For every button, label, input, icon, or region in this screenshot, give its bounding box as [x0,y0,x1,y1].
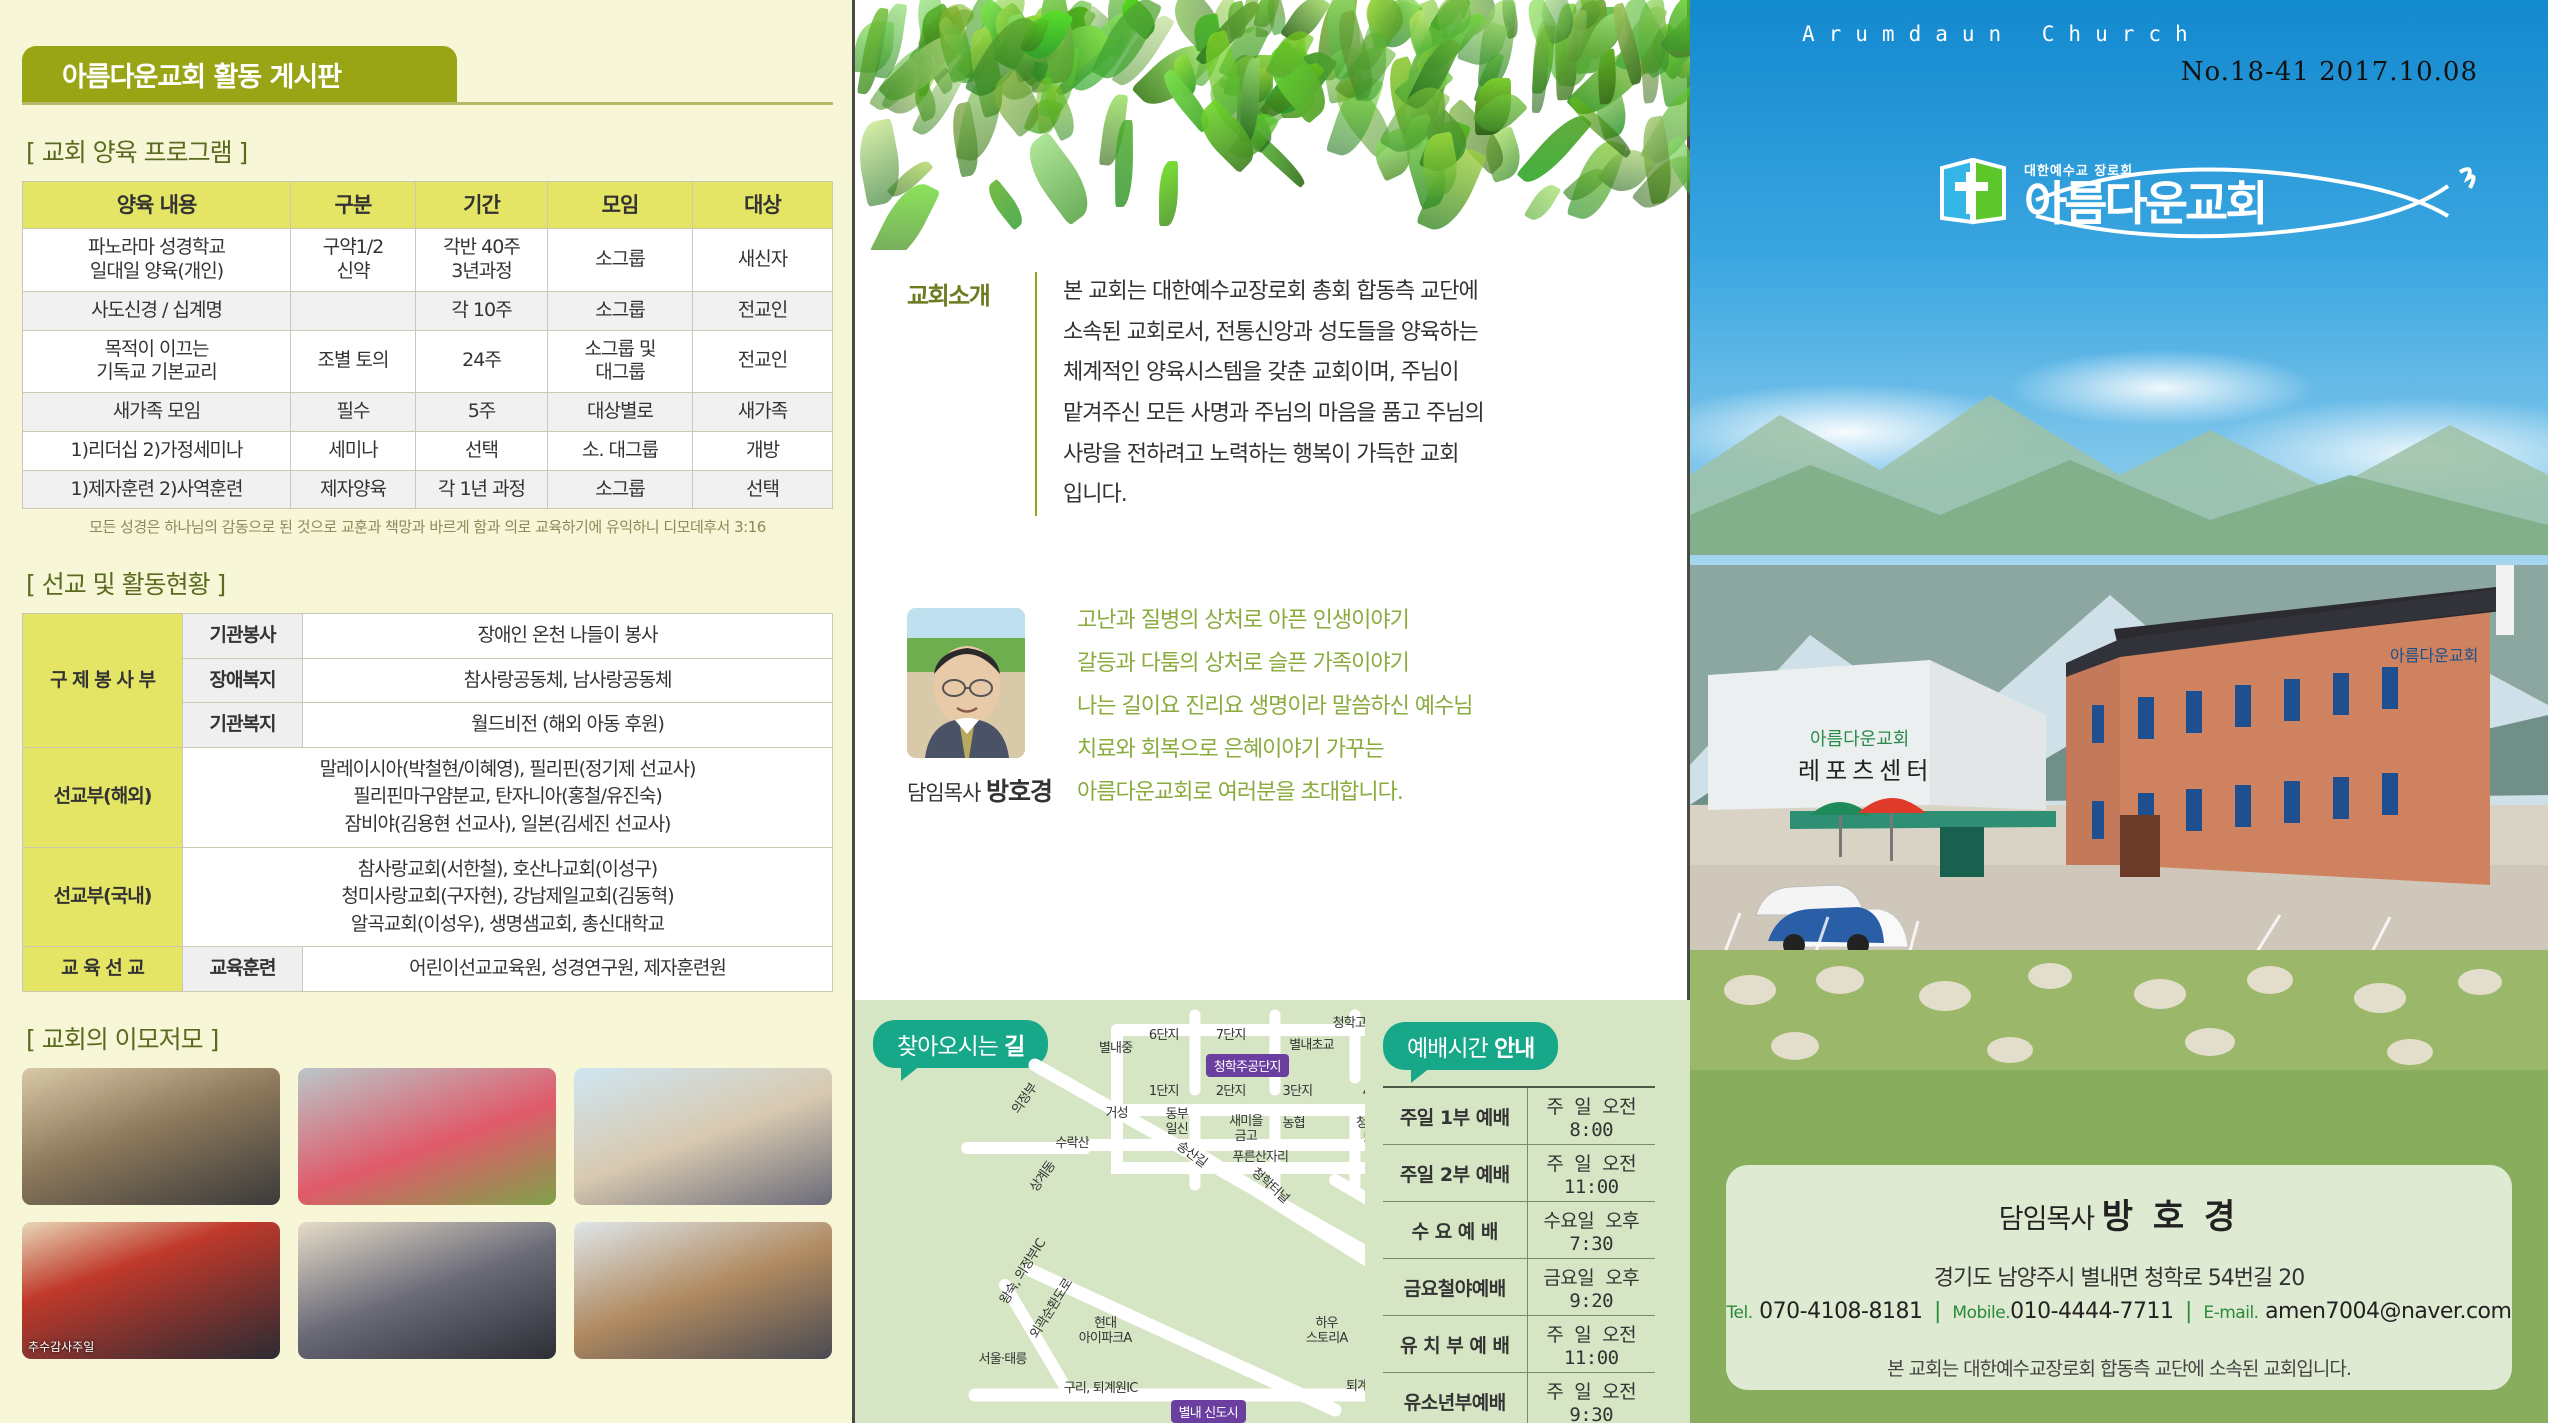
intro-line: 본 교회는 대한예수교장로회 총회 합동측 교단에 [1063,272,1647,313]
table-cell: 새신자 [693,229,833,292]
pastor-invitation-verse: 고난과 질병의 상처로 아픈 인생이야기갈등과 다툼의 상처로 슬픈 가족이야기… [1077,600,1647,814]
mission-value: 월드비전 (해외 아동 후원) [303,703,833,748]
mission-value: 어린이선교교육원, 성경연구원, 제자훈련원 [303,947,833,992]
map-label: 동부일신 [1166,1108,1188,1138]
tel-label: Tel. [1727,1303,1753,1323]
worship-row: 수 요 예 배수요일 오후 7:30 [1383,1202,1655,1259]
leaf-shape [1524,180,1562,225]
intro-body-text: 본 교회는 대한예수교장로회 총회 합동측 교단에소속된 교회로서, 전통신앙과… [1063,272,1647,516]
svg-text:아름다운교회: 아름다운교회 [1810,729,1909,749]
table-cell: 전교인 [693,291,833,330]
map-label: 별내중 [1099,1042,1132,1057]
worship-name: 유소년부예배 [1383,1373,1527,1423]
mission-category: 선교부(해외) [23,747,183,847]
table-header-row: 양육 내용구분기간모임대상 [23,182,833,229]
mission-subcategory: 장애복지 [183,658,303,703]
worship-title-bubble: 예배시간 안내 [1383,1022,1558,1070]
church-building-photo: 아름다운교회 레포츠센터 [1690,565,2548,995]
worship-time: 주 일 오전 11:00 [1527,1145,1655,1202]
door-cross-icon [1938,158,2012,230]
map-label: 별내 신도시 [1171,1400,1246,1423]
mission-category: 선교부(국내) [23,847,183,947]
photo-gallery: 추수감사주일 [22,1068,833,1359]
worship-row: 주일 1부 예배주 일 오전 8:00 [1383,1087,1655,1145]
table-cell: 각반 40주3년과정 [416,229,548,292]
program-col-0: 양육 내용 [23,182,291,229]
outing-group-photo [298,1068,556,1205]
table-row: 구 제 봉 사 부기관봉사장애인 온천 나들이 봉사 [23,614,833,659]
church-introduction: 교회소개 본 교회는 대한예수교장로회 총회 합동측 교단에소속된 교회로서, … [907,272,1647,516]
table-cell: 파노라마 성경학교일대일 양육(개인) [23,229,291,292]
table-row: 사도신경 / 십계명각 10주소그룹전교인 [23,291,833,330]
table-cell: 소그룹 및대그룹 [548,330,693,393]
map-label: 청학고 [1333,1017,1366,1032]
worship-row: 주일 2부 예배주 일 오전 11:00 [1383,1145,1655,1202]
leaf-shape [982,179,1029,231]
table-row: 선교부(해외)말레이시아(박철현/이혜영), 필리핀(정기제 선교사)필리핀마구… [23,747,833,847]
intro-line: 맡겨주신 모든 사명과 주님의 마음을 품고 주님의 [1063,394,1647,435]
table-cell: 전교인 [693,330,833,393]
table-cell: 목적이 이끄는기독교 기본교리 [23,330,291,393]
middle-panel: 교회소개 본 교회는 대한예수교장로회 총회 합동측 교단에소속된 교회로서, … [855,0,1690,1423]
table-cell: 소그룹 [548,291,693,330]
card-address: 경기도 남양주시 별내면 청학로 54번길 20 [1726,1260,2512,1292]
worship-choir-photo [22,1068,280,1205]
email-value[interactable]: amen7004@naver.com [2265,1299,2511,1324]
map-label: 푸른산자리 [1232,1151,1288,1166]
mission-value: 참사랑공동체, 남사랑공동체 [303,658,833,703]
map-label: 7단지 [1216,1029,1246,1044]
photo-caption: 추수감사주일 [28,1338,94,1355]
right-panel: Arumdaun Church No.18-41 2017.10.08 대한예수… [1690,0,2548,1423]
table-row: 선교부(국내)참사랑교회(서한철), 호산나교회(이성구)청미사랑교회(구자현)… [23,847,833,947]
map-label: 수락산 [1055,1137,1088,1152]
intro-divider [1035,272,1037,516]
verse-line: 나는 길이요 진리요 생명이라 말씀하신 예수님 [1077,686,1647,729]
worship-time: 금요일 오후 9:20 [1527,1259,1655,1316]
map-label: 서울·태릉 [979,1353,1027,1368]
mobile-value[interactable]: 010-4444-7711 [2010,1299,2173,1324]
mission-category: 교 육 선 교 [23,947,183,992]
program-col-1: 구분 [291,182,416,229]
small-group-women-photo [574,1068,832,1205]
brochure-page: 아름다운교회 활동 게시판 [ 교회 양육 프로그램 ] 양육 내용구분기간모임… [0,0,2551,1423]
worship-time: 주 일 오전 9:30 [1527,1373,1655,1423]
map-label: 현대아이파크A [1079,1317,1132,1347]
english-church-name: Arumdaun Church [1802,22,2202,46]
pastor-block: 담임목사 방호경 [907,608,1052,808]
table-cell: 구약1/2신약 [291,229,416,292]
table-cell: 조별 토의 [291,330,416,393]
leaf-shape [1158,161,1177,226]
program-scripture-note: 모든 성경은 하나님의 감동으로 된 것으로 교훈과 책망과 바르게 함과 의로… [22,516,833,537]
mission-value: 장애인 온천 나들이 봉사 [303,614,833,659]
table-cell: 1)제자훈련 2)사역훈련 [23,470,291,509]
card-denomination-note: 본 교회는 대한예수교장로회 합동측 교단에 소속된 교회입니다. [1726,1354,2512,1381]
table-cell [291,291,416,330]
map-label: 새미을금고 [1229,1115,1262,1145]
table-cell: 대상별로 [548,393,693,432]
leaf-shape [1663,0,1690,56]
logo-church-name: 아름다운교회 [2024,181,2265,228]
bible-study-photo [574,1222,832,1359]
pastor-photo [907,608,1025,758]
leaves-decoration-image [855,0,1690,250]
svg-text:레포츠센터: 레포츠센터 [1798,758,1933,785]
mobile-label: Mobile. [1952,1303,2010,1323]
table-cell: 선택 [693,470,833,509]
table-cell: 소그룹 [548,470,693,509]
map-label: 별내초교 [1289,1039,1334,1054]
congregation-photo [298,1222,556,1359]
intro-line: 소속된 교회로서, 전통신앙과 성도들을 양육하는 [1063,313,1647,354]
program-section-heading: [ 교회 양육 프로그램 ] [26,133,830,169]
svg-text:아름다운교회: 아름다운교회 [2390,647,2478,665]
mission-category: 구 제 봉 사 부 [23,614,183,748]
table-cell: 개방 [693,431,833,470]
map-label: 농협 [1283,1117,1305,1132]
map-label: 1단지 [1149,1085,1179,1100]
map-label: 2단지 [1216,1085,1246,1100]
thanksgiving-orchestra-photo: 추수감사주일 [22,1222,280,1359]
table-row: 1)제자훈련 2)사역훈련제자양육각 1년 과정소그룹선택 [23,470,833,509]
program-col-4: 대상 [693,182,833,229]
program-col-3: 모임 [548,182,693,229]
mission-subcategory: 교육훈련 [183,947,303,992]
verse-line: 고난과 질병의 상처로 아픈 인생이야기 [1077,600,1647,643]
table-cell: 새가족 [693,393,833,432]
table-cell: 제자양육 [291,470,416,509]
worship-name: 유 치 부 예 배 [1383,1316,1527,1373]
mission-value: 참사랑교회(서한철), 호산나교회(이성구)청미사랑교회(구자현), 강남제일교… [183,847,833,947]
map-label: 6단지 [1149,1029,1179,1044]
board-title-rule [22,102,833,105]
table-cell: 사도신경 / 십계명 [23,291,291,330]
worship-row: 유 치 부 예 배주 일 오전 11:00 [1383,1316,1655,1373]
table-cell: 각 1년 과정 [416,470,548,509]
table-row: 교 육 선 교교육훈련어린이선교교육원, 성경연구원, 제자훈련원 [23,947,833,992]
mission-section-heading: [ 선교 및 활동현황 ] [26,565,830,601]
worship-name: 주일 1부 예배 [1383,1087,1527,1145]
verse-line: 아름다운교회로 여러분을 초대합니다. [1077,772,1647,815]
worship-time: 주 일 오전 11:00 [1527,1316,1655,1373]
table-cell: 각 10주 [416,291,548,330]
board-title: 아름다운교회 활동 게시판 [22,46,457,102]
mission-value: 말레이시아(박철현/이혜영), 필리핀(정기제 선교사)필리핀마구얌분교, 탄자… [183,747,833,847]
table-cell: 새가족 모임 [23,393,291,432]
worship-name: 주일 2부 예배 [1383,1145,1527,1202]
verse-line: 치료와 회복으로 은혜이야기 가꾸는 [1077,729,1647,772]
left-panel: 아름다운교회 활동 게시판 [ 교회 양육 프로그램 ] 양육 내용구분기간모임… [0,0,855,1423]
pastor-name-caption: 담임목사 방호경 [907,772,1052,808]
worship-name: 수 요 예 배 [1383,1202,1527,1259]
verse-line: 갈등과 다툼의 상처로 슬픈 가족이야기 [1077,643,1647,686]
table-row: 새가족 모임필수5주대상별로새가족 [23,393,833,432]
map-label: 하우스토리A [1306,1317,1348,1347]
card-contact-line: Tel. 070-4108-8181 | Mobile.010-4444-771… [1726,1299,2512,1324]
table-cell: 필수 [291,393,416,432]
table-cell: 세미나 [291,431,416,470]
worship-row: 금요철야예배금요일 오후 9:20 [1383,1259,1655,1316]
intro-line: 체계적인 양육시스템을 갖춘 교회이며, 주님이 [1063,353,1647,394]
map-label: 청학주공단지 [1206,1054,1289,1077]
gallery-section-heading: [ 교회의 이모저모 ] [26,1020,830,1056]
table-cell: 1)리더십 2)가정세미나 [23,431,291,470]
church-logo: 대한예수교 장로회 아름다운교회 [1938,158,2265,230]
map-label: 거성 [1106,1107,1128,1122]
issue-number-date: No.18-41 2017.10.08 [2181,57,2478,87]
mission-subcategory: 기관복지 [183,703,303,748]
intro-line: 입니다. [1063,475,1647,516]
leaf-shape [1016,132,1100,226]
table-body: 파노라마 성경학교일대일 양육(개인)구약1/2신약각반 40주3년과정소그룹새… [23,229,833,509]
table-cell: 선택 [416,431,548,470]
mission-status-table: 구 제 봉 사 부기관봉사장애인 온천 나들이 봉사장애복지참사랑공동체, 남사… [22,613,833,991]
worship-time: 주 일 오전 8:00 [1527,1087,1655,1145]
logo-wordmark: 대한예수교 장로회 아름다운교회 [2024,160,2265,228]
table-cell: 소. 대그룹 [548,431,693,470]
worship-time: 수요일 오후 7:30 [1527,1202,1655,1259]
table-row: 파노라마 성경학교일대일 양육(개인)구약1/2신약각반 40주3년과정소그룹새… [23,229,833,292]
contact-card: 담임목사 방 호 경 경기도 남양주시 별내면 청학로 54번길 20 Tel.… [1726,1165,2512,1390]
worship-name: 금요철야예배 [1383,1259,1527,1316]
nurture-program-table: 양육 내용구분기간모임대상 파노라마 성경학교일대일 양육(개인)구약1/2신약… [22,181,833,509]
map-label: 구리, 퇴계원IC [1064,1382,1138,1397]
table-cell: 5주 [416,393,548,432]
table-row: 목적이 이끄는기독교 기본교리조별 토의24주소그룹 및대그룹전교인 [23,330,833,393]
worship-row: 유소년부예배주 일 오전 9:30 [1383,1373,1655,1423]
program-col-2: 기간 [416,182,548,229]
table-cell: 소그룹 [548,229,693,292]
email-label: E-mail. [2203,1303,2258,1323]
worship-schedule-table: 주일 1부 예배주 일 오전 8:00주일 2부 예배주 일 오전 11:00수… [1383,1086,1655,1423]
tel-value[interactable]: 070-4108-8181 [1759,1299,1922,1324]
intro-label: 교회소개 [907,272,1017,516]
table-cell: 24주 [416,330,548,393]
worship-times-panel: 예배시간 안내 주일 1부 예배주 일 오전 8:00주일 2부 예배주 일 오… [1365,1000,1690,1423]
intro-line: 사랑을 전하려고 노력하는 행복이 가득한 교회 [1063,435,1647,476]
table-row: 1)리더십 2)가정세미나세미나선택소. 대그룹개방 [23,431,833,470]
mountain-silhouette [1690,355,2548,555]
map-label: 3단지 [1283,1085,1313,1100]
mission-subcategory: 기관봉사 [183,614,303,659]
card-pastor-line: 담임목사 방 호 경 [1726,1189,2512,1238]
